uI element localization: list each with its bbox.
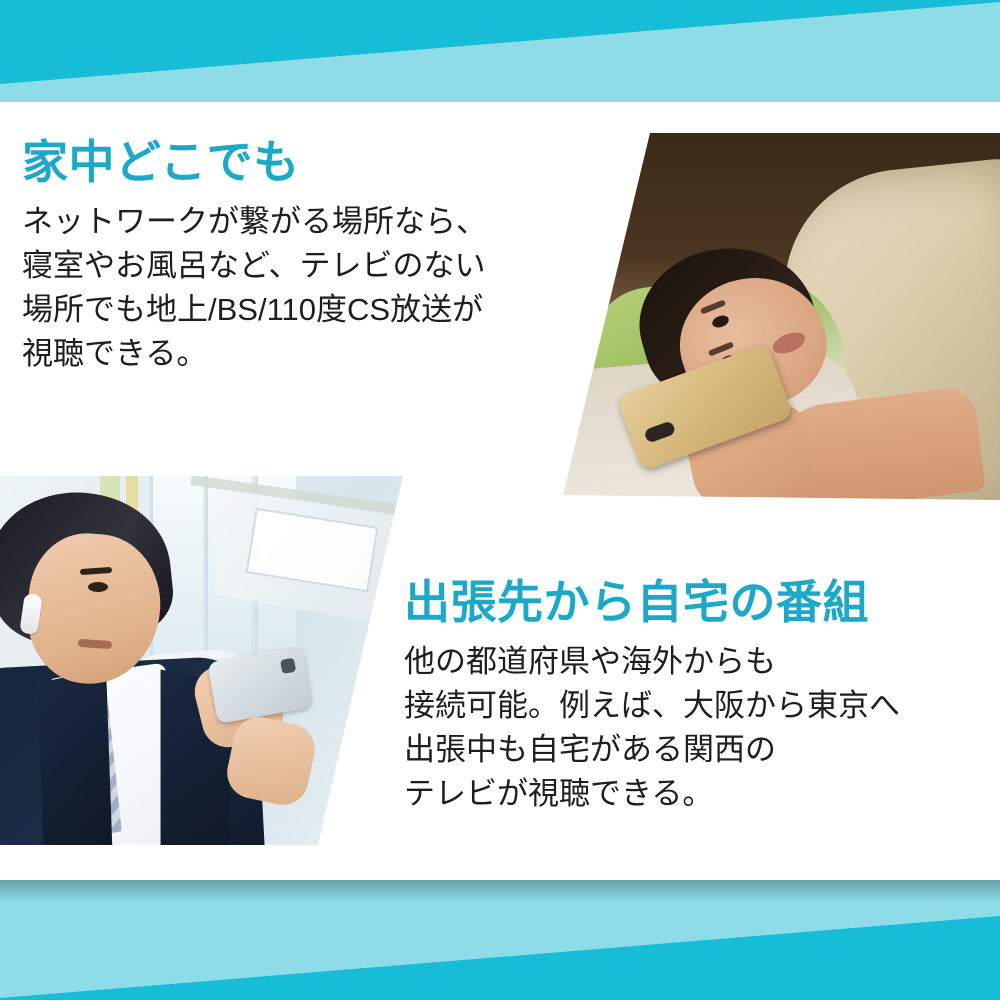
top-decorative-band xyxy=(0,0,1000,102)
feature-text-home-anywhere: 家中どこでも ネットワークが繋がる場所なら、 寝室やお風呂など、テレビのない 場… xyxy=(22,138,487,376)
section-body-line: 出張中も自宅がある関西の xyxy=(404,728,900,772)
photo-woman-in-bed xyxy=(540,128,1000,500)
bottom-band-wedge xyxy=(0,880,1000,1000)
section-body-line: ネットワークが繋がる場所なら、 xyxy=(22,200,487,244)
bottom-decorative-band xyxy=(0,880,1000,1000)
promo-banner-canvas: 家中どこでも ネットワークが繋がる場所なら、 寝室やお風呂など、テレビのない 場… xyxy=(0,0,1000,1000)
section-body-line: 視聴できる。 xyxy=(22,332,487,376)
section-heading: 出張先から自宅の番組 xyxy=(404,578,900,626)
section-body-line: テレビが視聴できる。 xyxy=(404,772,900,816)
section-body-line: 他の都道府県や海外からも xyxy=(404,640,900,684)
section-body-line: 寝室やお風呂など、テレビのない xyxy=(22,244,487,288)
top-band-wedge xyxy=(0,0,1000,102)
train-interior-scene xyxy=(0,472,410,850)
man-eye xyxy=(88,582,108,592)
section-body-line: 接続可能。例えば、大阪から東京へ xyxy=(404,684,900,728)
section-body-line: 場所でも地上/BS/110度CS放送が xyxy=(22,288,487,332)
feature-text-remote-viewing: 出張先から自宅の番組 他の都道府県や海外からも 接続可能。例えば、大阪から東京へ… xyxy=(404,578,900,816)
man-jacket-lapel xyxy=(38,668,113,850)
photo-man-on-train xyxy=(0,472,410,850)
section-heading: 家中どこでも xyxy=(22,138,487,186)
bedroom-scene xyxy=(540,128,1000,500)
